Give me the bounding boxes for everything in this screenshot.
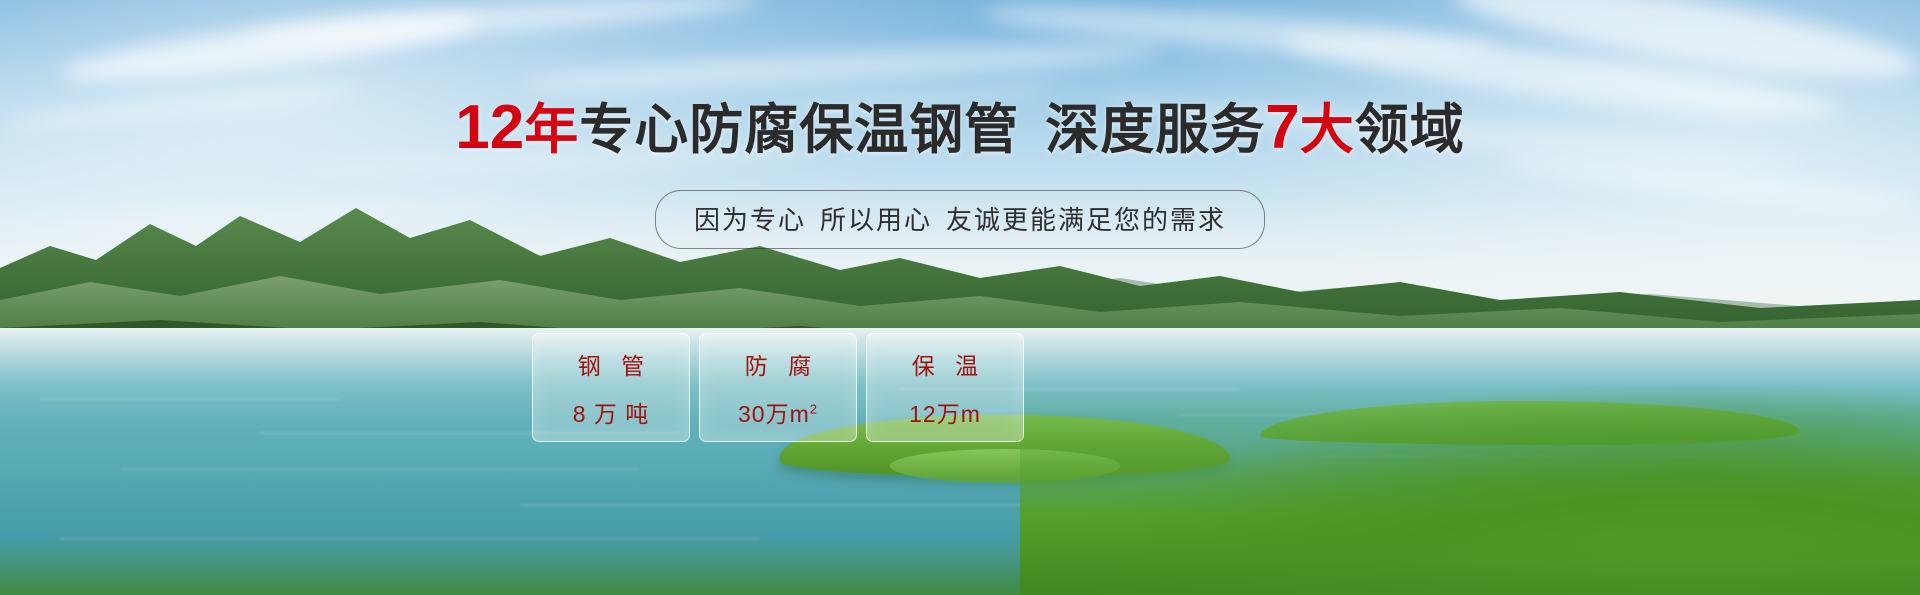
headline-segment-3: 领域: [1355, 100, 1465, 160]
stat-card-group: 钢 管 8 万 吨 防 腐 30万m2 保 温 12万m: [532, 333, 1024, 442]
hero-banner: 12年专心防腐保温钢管深度服务7大领域 因为专心所以用心友诚更能满足您的需求 钢…: [0, 0, 1920, 595]
headline-fields-suffix: 大: [1300, 100, 1355, 160]
stat-value-text: 12万m: [909, 401, 981, 427]
stat-card-label: 保 温: [905, 347, 985, 381]
subtitle-container: 因为专心所以用心友诚更能满足您的需求: [0, 190, 1920, 249]
stat-card-value: 30万m2: [738, 395, 818, 429]
headline-years-suffix: 年: [524, 100, 579, 160]
subtitle-part-3: 友诚更能满足您的需求: [946, 205, 1226, 235]
water-ripple: [40, 398, 340, 400]
stat-value-superscript: 2: [810, 401, 818, 416]
headline-segment-2: 深度服务: [1045, 100, 1265, 160]
headline-segment-1: 专心防腐保温钢管: [579, 100, 1019, 160]
grass-foreground-bottom: [0, 537, 1920, 595]
stat-card-label: 钢 管: [571, 347, 651, 381]
stat-card-value: 8 万 吨: [573, 395, 650, 429]
stat-card-value: 12万m: [909, 395, 981, 429]
stat-value-text: 30万m: [738, 401, 810, 427]
subtitle-part-1: 因为专心: [694, 205, 806, 235]
stat-value-text: 8 万 吨: [573, 401, 650, 427]
stat-card-anticorrosion: 防 腐 30万m2: [699, 333, 857, 442]
subtitle-pill: 因为专心所以用心友诚更能满足您的需求: [655, 190, 1265, 249]
stat-card-label: 防 腐: [738, 347, 818, 381]
subtitle-part-2: 所以用心: [820, 205, 932, 235]
stat-card-steel-pipe: 钢 管 8 万 吨: [532, 333, 690, 442]
water-ripple: [120, 468, 640, 470]
headline-years-number: 12: [455, 93, 524, 162]
stat-card-insulation: 保 温 12万m: [866, 333, 1024, 442]
headline-fields-number: 7: [1265, 93, 1299, 162]
headline: 12年专心防腐保温钢管深度服务7大领域: [0, 85, 1920, 164]
